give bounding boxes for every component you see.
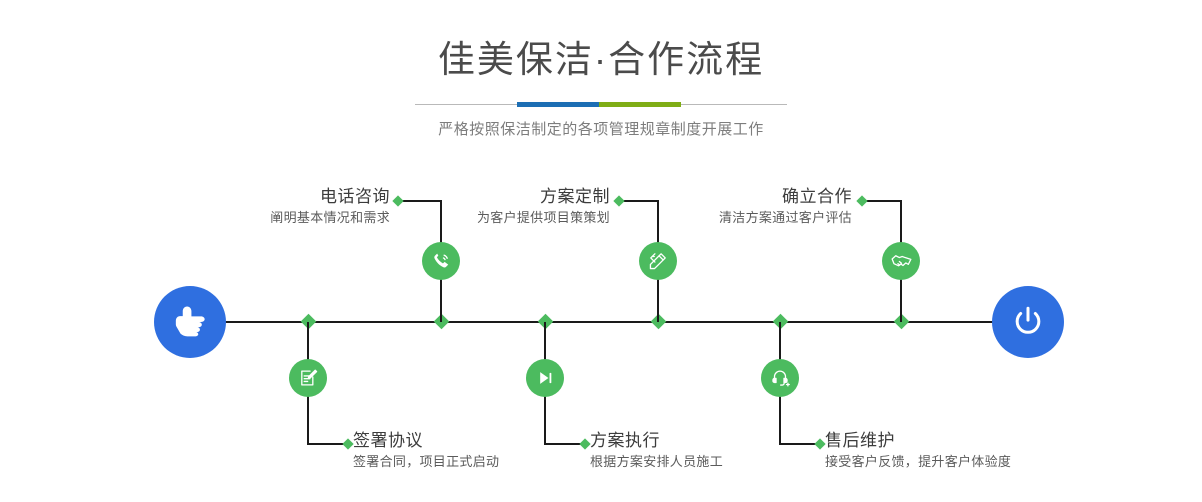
step-label-3: 方案定制 为客户提供项目策策划 — [370, 186, 610, 228]
tip-2 — [342, 438, 353, 449]
step-desc-6: 接受客户反馈，提升客户体验度 — [825, 452, 1105, 472]
page-header: 佳美保洁·合作流程 严格按照保洁制定的各项管理规章制度开展工作 — [0, 0, 1202, 140]
step-icon-node-2[interactable] — [289, 359, 327, 397]
step-label-5: 确立合作 清洁方案通过客户评估 — [612, 186, 852, 228]
play-skip-icon — [534, 367, 556, 389]
step-desc-3: 为客户提供项目策策划 — [370, 208, 610, 228]
step-icon-node-6[interactable] — [761, 359, 799, 397]
divider-blue-segment — [517, 102, 599, 107]
handshake-icon — [890, 250, 913, 273]
step-label-6: 售后维护 接受客户反馈，提升客户体验度 — [825, 430, 1105, 472]
step-desc-5: 清洁方案通过客户评估 — [612, 208, 852, 228]
divider-green-segment — [599, 102, 681, 107]
arm-6 — [779, 443, 819, 445]
tip-5 — [856, 195, 867, 206]
pencil-ruler-icon — [647, 250, 669, 272]
step-title-5: 确立合作 — [612, 186, 852, 208]
pointing-hand-icon — [170, 302, 210, 342]
step-title-1: 电话咨询 — [150, 186, 390, 208]
step-title-3: 方案定制 — [370, 186, 610, 208]
document-sign-icon — [297, 367, 319, 389]
flow-diagram-page: 佳美保洁·合作流程 严格按照保洁制定的各项管理规章制度开展工作 — [0, 0, 1202, 502]
title-divider — [415, 99, 787, 111]
start-node-pointing-hand[interactable] — [154, 286, 226, 358]
step-icon-node-1[interactable] — [422, 242, 460, 280]
step-icon-node-5[interactable] — [882, 242, 920, 280]
end-node-power-button[interactable] — [992, 286, 1064, 358]
step-desc-1: 阐明基本情况和需求 — [150, 208, 390, 228]
step-label-2: 签署协议 签署合同，项目正式启动 — [353, 430, 613, 472]
phone-call-icon — [430, 250, 452, 272]
step-desc-4: 根据方案安排人员施工 — [590, 452, 850, 472]
arm-2 — [307, 443, 347, 445]
step-label-4: 方案执行 根据方案安排人员施工 — [590, 430, 850, 472]
step-label-1: 电话咨询 阐明基本情况和需求 — [150, 186, 390, 228]
page-title: 佳美保洁·合作流程 — [0, 0, 1202, 82]
step-title-4: 方案执行 — [590, 430, 850, 452]
step-desc-2: 签署合同，项目正式启动 — [353, 452, 613, 472]
step-icon-node-4[interactable] — [526, 359, 564, 397]
headset-support-icon — [769, 367, 791, 389]
step-icon-node-3[interactable] — [639, 242, 677, 280]
page-subtitle: 严格按照保洁制定的各项管理规章制度开展工作 — [0, 111, 1202, 140]
step-title-6: 售后维护 — [825, 430, 1105, 452]
arm-5 — [862, 200, 902, 202]
power-button-icon — [1008, 302, 1048, 342]
step-title-2: 签署协议 — [353, 430, 613, 452]
arm-4 — [544, 443, 584, 445]
